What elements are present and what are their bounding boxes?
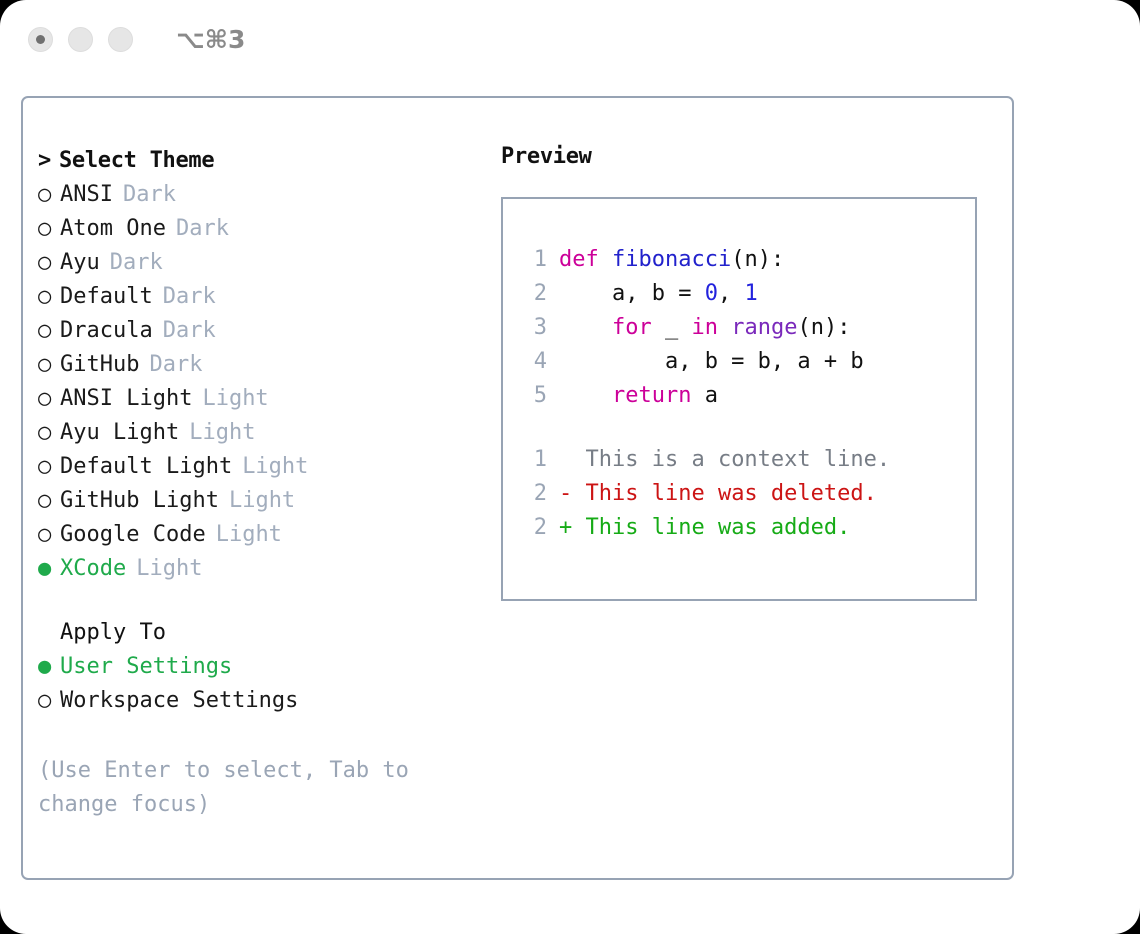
code-line: 3 for _ in range(n): [503,311,975,345]
theme-variant-badge: Dark [163,314,216,348]
code-line-content: a, b = 0, 1 [559,277,758,311]
theme-name-label: GitHub [60,348,139,382]
window-titlebar: ⌥⌘3 [0,0,1140,78]
theme-name-label: ANSI Light [60,382,192,416]
code-line: 1def fibonacci(n): [503,243,975,277]
theme-name-label: XCode [60,552,126,586]
radio-selected-icon[interactable]: ● [38,650,60,684]
code-token-plain: (n): [797,315,850,340]
theme-list-item[interactable]: ○DefaultDark [38,280,478,314]
theme-list-item[interactable]: ○GitHubDark [38,348,478,382]
code-line-content: a, b = b, a + b [559,345,864,379]
theme-list-column: > Select Theme ○ANSIDark○Atom OneDark○Ay… [38,144,478,822]
radio-unselected-icon[interactable]: ○ [38,450,60,484]
theme-list-item[interactable]: ○ANSI LightLight [38,382,478,416]
code-token-keyword: in [691,315,718,340]
apply-to-option-label: Workspace Settings [60,684,298,718]
code-line: 5 return a [503,379,975,413]
theme-name-label: Atom One [60,212,166,246]
code-sample: 1def fibonacci(n):2 a, b = 0, 13 for _ i… [503,243,975,413]
theme-variant-badge: Dark [149,348,202,382]
code-token-plain [559,383,612,408]
code-line: 4 a, b = b, a + b [503,345,975,379]
theme-variant-badge: Dark [123,178,176,212]
theme-variant-badge: Dark [110,246,163,280]
keyboard-hint-text: (Use Enter to select, Tab to change focu… [38,754,458,822]
apply-to-option-label: User Settings [60,650,232,684]
window-dot-second[interactable] [68,27,93,52]
preview-box: 1def fibonacci(n):2 a, b = 0, 13 for _ i… [501,197,977,601]
diff-line-number: 2 [517,511,547,545]
code-token-keyword: def [559,247,612,272]
code-line-number: 4 [517,345,547,379]
code-line-number: 3 [517,311,547,345]
theme-list-item[interactable]: ○Atom OneDark [38,212,478,246]
window-dot-third[interactable] [108,27,133,52]
theme-variant-badge: Dark [163,280,216,314]
theme-variant-badge: Light [229,484,295,518]
code-line-number: 1 [517,243,547,277]
radio-unselected-icon[interactable]: ○ [38,416,60,450]
section-spacer [38,586,478,616]
apply-to-heading-label: Apply To [60,616,166,650]
window-dot-active[interactable] [28,27,53,52]
code-token-plain: a, b = [559,281,705,306]
apply-to-option[interactable]: ●User Settings [38,650,478,684]
select-theme-heading: > Select Theme [38,144,478,178]
theme-list-item[interactable]: ○Google CodeLight [38,518,478,552]
radio-unselected-icon[interactable]: ○ [38,212,60,246]
window-dot-active-indicator [36,35,45,44]
code-token-plain: , [718,281,745,306]
diff-spacer [503,413,975,443]
apply-to-option[interactable]: ○Workspace Settings [38,684,478,718]
diff-marker: + [559,511,572,545]
code-token-function: fibonacci [612,247,731,272]
theme-list-item[interactable]: ○GitHub LightLight [38,484,478,518]
theme-list-item[interactable]: ○DraculaDark [38,314,478,348]
radio-selected-icon[interactable]: ● [38,552,60,586]
theme-list-item[interactable]: ○ANSIDark [38,178,478,212]
radio-unselected-icon[interactable]: ○ [38,348,60,382]
theme-name-label: Ayu [60,246,100,280]
radio-unselected-icon[interactable]: ○ [38,684,60,718]
theme-name-label: Ayu Light [60,416,179,450]
theme-list-item[interactable]: ○AyuDark [38,246,478,280]
radio-unselected-icon[interactable]: ○ [38,280,60,314]
code-token-number: 1 [744,281,757,306]
radio-unselected-icon[interactable]: ○ [38,382,60,416]
radio-unselected-icon[interactable]: ○ [38,246,60,280]
radio-unselected-icon[interactable]: ○ [38,484,60,518]
preview-heading: Preview [501,144,1001,169]
apply-to-list: ●User Settings○Workspace Settings [38,650,478,718]
theme-variant-badge: Light [216,518,282,552]
diff-line-number: 2 [517,477,547,511]
code-token-number: 0 [705,281,718,306]
theme-variant-badge: Light [242,450,308,484]
diff-line-text: This line was added. [572,511,850,545]
radio-unselected-icon[interactable]: ○ [38,178,60,212]
diff-line-text: This is a context line. [572,443,890,477]
theme-variant-badge: Light [202,382,268,416]
theme-name-label: Dracula [60,314,153,348]
hint-spacer [38,718,478,748]
keyboard-shortcut-label: ⌥⌘3 [176,25,245,54]
diff-line-number: 1 [517,443,547,477]
diff-marker: - [559,477,572,511]
diff-line: 2- This line was deleted. [503,477,975,511]
theme-variant-badge: Dark [176,212,229,246]
code-token-plain: (n): [731,247,784,272]
code-line-content: return a [559,379,718,413]
theme-list-item[interactable]: ○Default LightLight [38,450,478,484]
main-panel: > Select Theme ○ANSIDark○Atom OneDark○Ay… [21,96,1014,880]
code-token-plain [559,315,612,340]
radio-unselected-icon[interactable]: ○ [38,314,60,348]
apply-to-heading: Apply To [38,616,478,650]
code-line-content: def fibonacci(n): [559,243,784,277]
diff-line-text: This line was deleted. [572,477,877,511]
diff-marker [559,443,572,477]
radio-unselected-icon[interactable]: ○ [38,518,60,552]
preview-column: Preview 1def fibonacci(n):2 a, b = 0, 13… [501,144,1001,601]
code-line: 2 a, b = 0, 1 [503,277,975,311]
theme-name-label: GitHub Light [60,484,219,518]
select-theme-heading-label: Select Theme [59,144,214,178]
code-line-number: 5 [517,379,547,413]
theme-name-label: Google Code [60,518,206,552]
theme-name-label: Default [60,280,153,314]
code-line-number: 2 [517,277,547,311]
theme-list-item[interactable]: ●XCodeLight [38,552,478,586]
theme-list-item[interactable]: ○Ayu LightLight [38,416,478,450]
code-token-keyword: for [612,315,652,340]
theme-name-label: ANSI [60,178,113,212]
prompt-caret-icon: > [38,144,51,178]
diff-line: 2+ This line was added. [503,511,975,545]
code-token-plain: a, b = b, a + b [559,349,864,374]
theme-name-label: Default Light [60,450,232,484]
diff-sample: 1 This is a context line.2- This line wa… [503,443,975,545]
code-token-plain: _ [652,315,692,340]
code-line-content: for _ in range(n): [559,311,850,345]
theme-variant-badge: Light [189,416,255,450]
code-token-plain: a [691,383,718,408]
theme-variant-badge: Light [136,552,202,586]
diff-line: 1 This is a context line. [503,443,975,477]
code-token-plain [718,315,731,340]
theme-list: ○ANSIDark○Atom OneDark○AyuDark○DefaultDa… [38,178,478,586]
code-token-builtin: range [731,315,797,340]
theme-picker-window: ⌥⌘3 > Select Theme ○ANSIDark○Atom OneDar… [0,0,1140,934]
code-token-keyword: return [612,383,691,408]
